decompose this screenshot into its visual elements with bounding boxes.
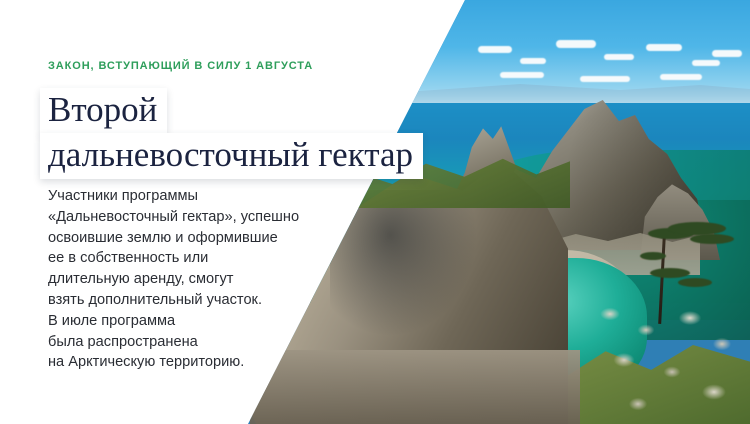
headline-line-2-wrap: дальневосточный гектар (40, 133, 423, 179)
page-title-line-2: дальневосточный гектар (40, 133, 423, 179)
page-title-line-1: Второй (40, 88, 167, 134)
eyebrow-label: ЗАКОН, ВСТУПАЮЩИЙ В СИЛУ 1 АВГУСТА (48, 60, 313, 72)
text-content: ЗАКОН, ВСТУПАЮЩИЙ В СИЛУ 1 АВГУСТА Второ… (0, 0, 750, 424)
headline-line-1-wrap: Второй (40, 88, 167, 134)
body-paragraph: Участники программы «Дальневосточный гек… (48, 186, 348, 373)
infographic-card: ЗАКОН, ВСТУПАЮЩИЙ В СИЛУ 1 АВГУСТА Второ… (0, 0, 750, 424)
